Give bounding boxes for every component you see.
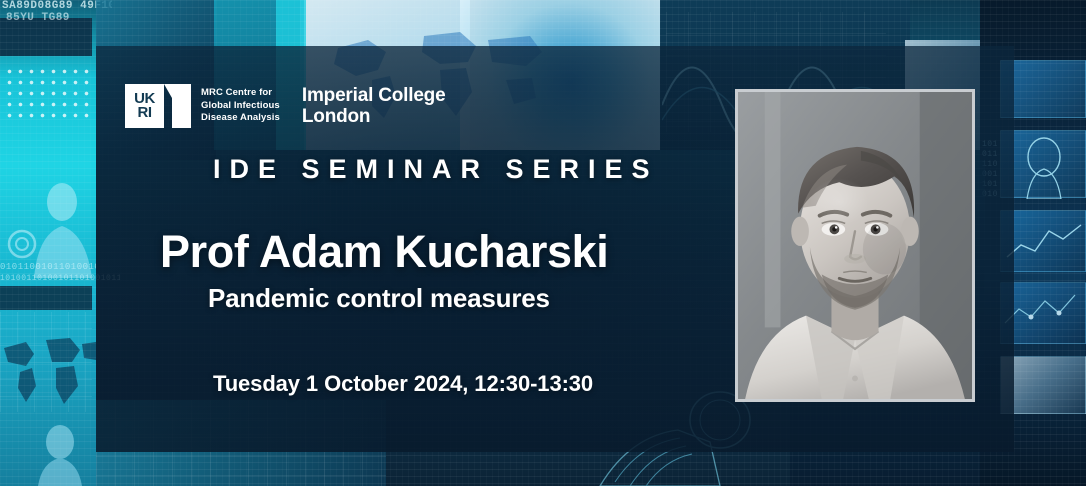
bg-binary-strip-left: 0101100101101001011010010110100101101 [0, 262, 96, 272]
seminar-banner: SA89D08G89 49F1GU 49 3D 85YU TG89 010110… [0, 0, 1086, 486]
talk-title: Pandemic control measures [208, 283, 550, 314]
ukri-logo: UK RI [125, 84, 191, 128]
mrc-line-3: Disease Analysis [201, 112, 280, 125]
speaker-portrait [735, 89, 975, 402]
bg-left-dark-block-mid [0, 286, 92, 310]
series-title: IDE SEMINAR SERIES [213, 154, 659, 185]
imperial-line-1: Imperial College [302, 85, 446, 106]
imperial-college-logo: Imperial College London [302, 85, 446, 128]
ukri-logo-chevron-icon [164, 84, 191, 128]
mrc-line-1: MRC Centre for [201, 87, 280, 100]
logo-row: UK RI MRC Centre for Global Infectious D… [125, 84, 445, 128]
bg-world-map-left [0, 330, 96, 416]
seminar-datetime: Tuesday 1 October 2024, 12:30-13:30 [213, 371, 593, 397]
mrc-centre-name: MRC Centre for Global Infectious Disease… [201, 87, 280, 125]
bg-left-dot-matrix [4, 66, 90, 118]
ukri-logo-mark: UK RI [125, 84, 164, 128]
imperial-line-2: London [302, 106, 446, 127]
speaker-name: Prof Adam Kucharski [160, 226, 608, 278]
ukri-logo-line2: RI [138, 106, 152, 120]
mrc-line-2: Global Infectious [201, 100, 280, 113]
portrait-photo [738, 92, 972, 399]
